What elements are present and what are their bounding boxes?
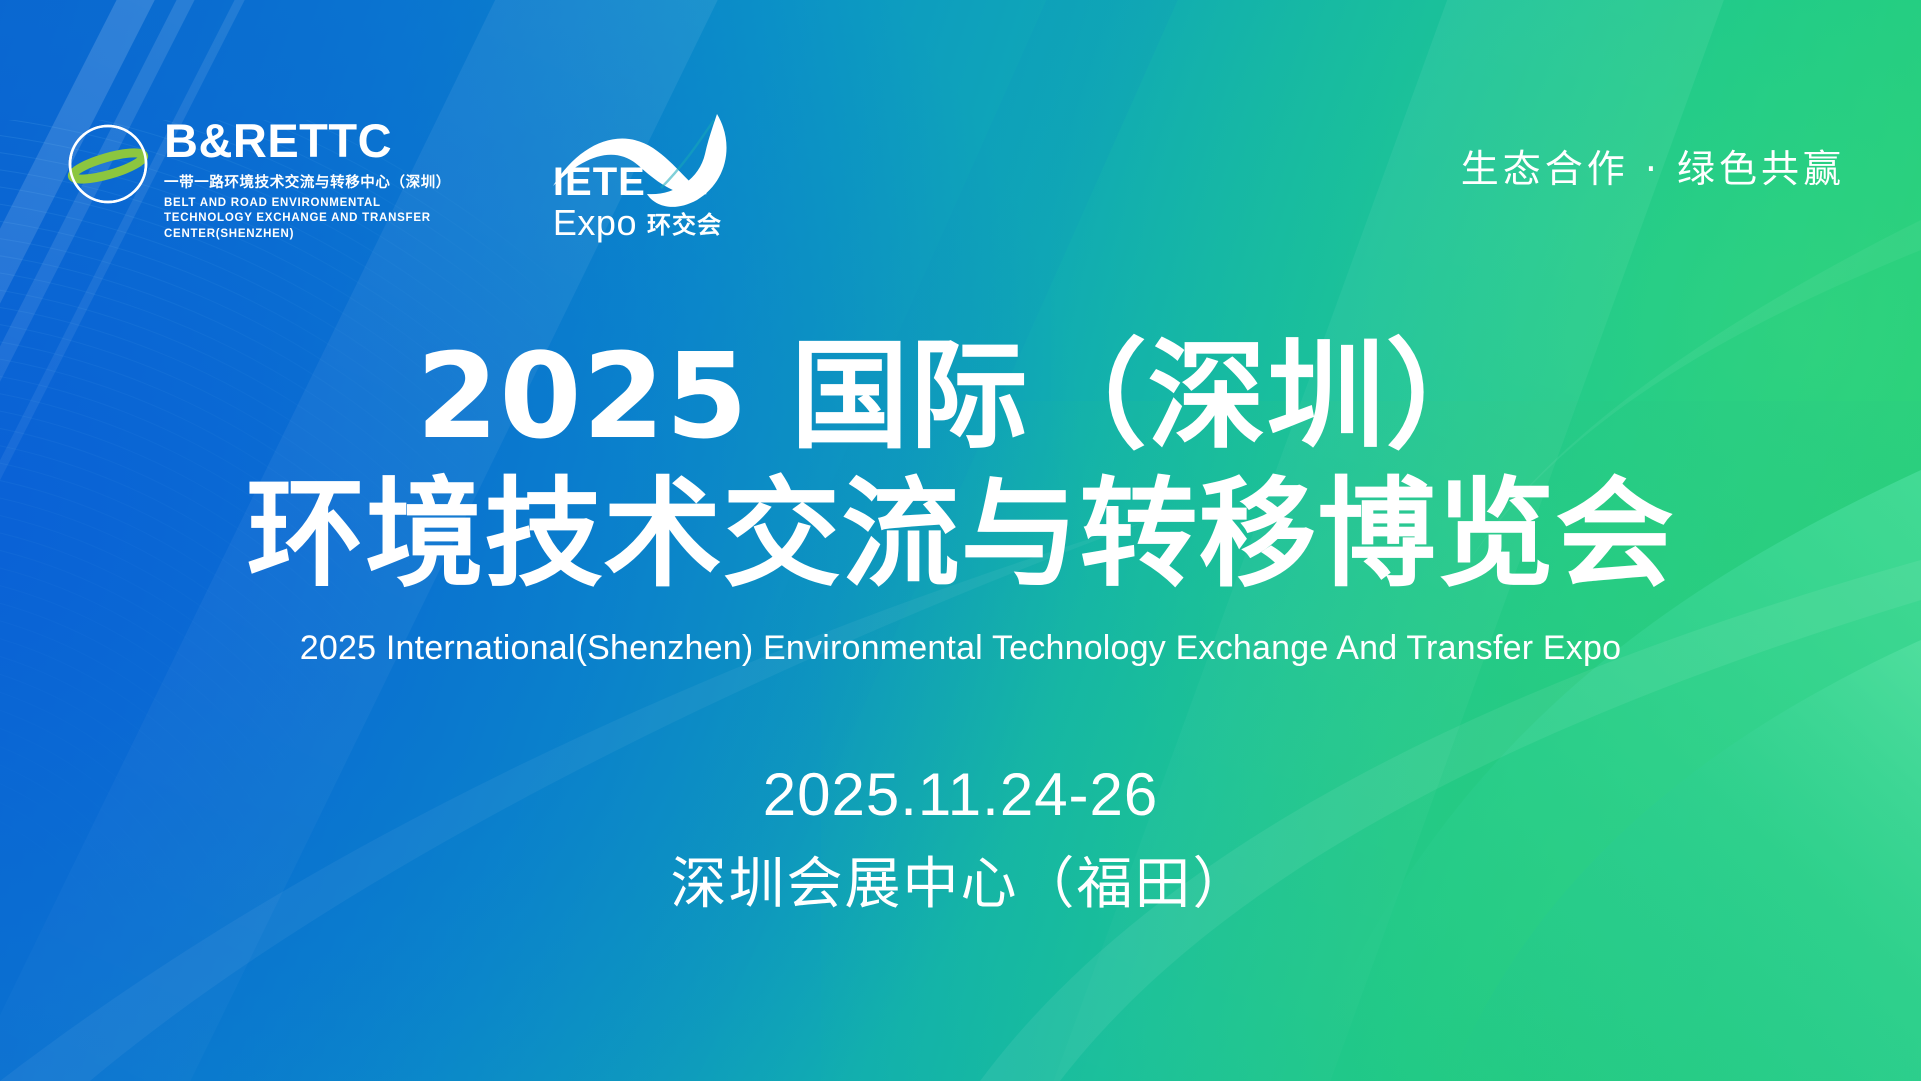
banner-header: B&RETTC 一带一路环境技术交流与转移中心（深圳） BELT AND ROA… (0, 0, 1921, 270)
brettc-name-cn: 一带一路环境技术交流与转移中心（深圳） (164, 171, 451, 192)
iete-acronym: IETE (553, 160, 646, 205)
brettc-logo[interactable]: B&RETTC 一带一路环境技术交流与转移中心（深圳） BELT AND ROA… (66, 118, 451, 242)
circle-with-green-band-icon (66, 122, 150, 206)
banner-meta: 2025.11.24-26 深圳会展中心（福田） (0, 760, 1921, 920)
brettc-text-block: B&RETTC 一带一路环境技术交流与转移中心（深圳） BELT AND ROA… (164, 118, 451, 242)
event-title-line2: 环境技术交流与转移博览会 (0, 466, 1921, 603)
iete-expo-label-cn: 环交会 (647, 205, 722, 244)
brettc-name-en-line2: TECHNOLOGY EXCHANGE AND TRANSFER (164, 211, 451, 226)
event-subtitle-en: 2025 International(Shenzhen) Environment… (0, 629, 1921, 668)
brettc-name-en-line1: BELT AND ROAD ENVIRONMENTAL (164, 196, 451, 211)
iete-expo-label: Expo (553, 202, 637, 244)
logo-group: B&RETTC 一带一路环境技术交流与转移中心（深圳） BELT AND ROA… (66, 118, 751, 246)
event-date: 2025.11.24-26 (0, 760, 1921, 829)
brettc-wordmark: B&RETTC (164, 118, 451, 164)
iete-expo-row: Expo 环交会 (553, 202, 722, 244)
event-venue: 深圳会展中心（福田） (0, 839, 1921, 920)
event-title-line1: 2025 国际（深圳） (0, 330, 1921, 462)
banner-main: 2025 国际（深圳） 环境技术交流与转移博览会 2025 Internatio… (0, 330, 1921, 668)
brettc-name-en: BELT AND ROAD ENVIRONMENTAL TECHNOLOGY E… (164, 196, 451, 242)
brettc-name-en-line3: CENTER(SHENZHEN) (164, 227, 451, 242)
event-banner: B&RETTC 一带一路环境技术交流与转移中心（深圳） BELT AND ROA… (0, 0, 1921, 1081)
event-slogan: 生态合作 · 绿色共赢 (1461, 138, 1845, 193)
iete-expo-logo[interactable]: IETE Expo 环交会 (545, 114, 751, 246)
